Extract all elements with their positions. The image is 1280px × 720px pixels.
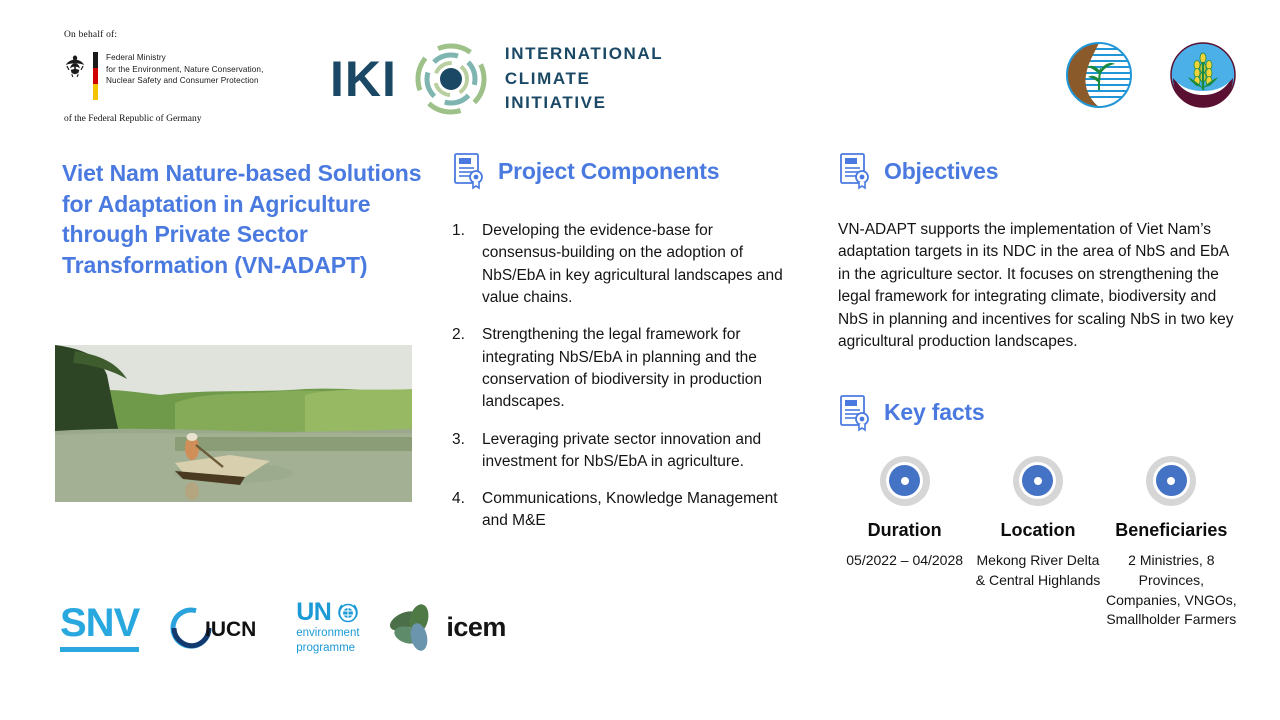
ministry-line-1: Federal Ministry xyxy=(106,52,263,64)
key-fact-location: Location Mekong River Delta & Central Hi… xyxy=(971,456,1104,631)
list-item: 3. Leveraging private sector innovation … xyxy=(452,429,792,474)
ministry-name: Federal Ministry for the Environment, Na… xyxy=(106,52,263,87)
icem-leaf-icon xyxy=(386,602,438,654)
objectives-title: Objectives xyxy=(884,158,998,185)
un-environment-programme-logo: UN environment programme xyxy=(296,600,360,655)
list-item-number: 3. xyxy=(452,429,482,474)
mangrove-river-image xyxy=(55,345,412,502)
iki-wordmark: IKI xyxy=(330,54,397,104)
ministry-line-2: for the Environment, Nature Conservation… xyxy=(106,64,263,76)
list-item-text: Strengthening the legal framework for in… xyxy=(482,324,792,413)
key-fact-value: 05/2022 – 04/2028 xyxy=(846,551,963,571)
german-flag-bar xyxy=(93,52,98,100)
vietnam-partner-logos xyxy=(1062,38,1240,112)
un-sub-line-2: programme xyxy=(296,642,360,655)
iki-circle-mark-icon xyxy=(415,43,487,115)
page-title: Viet Nam Nature-based Solutions for Adap… xyxy=(62,158,432,280)
list-item-number: 4. xyxy=(452,488,482,533)
iucn-logo-mark: IUCN xyxy=(165,602,270,654)
un-sub-line-1: environment xyxy=(296,627,360,640)
key-facts-grid: Duration 05/2022 – 04/2028 Location Meko… xyxy=(838,456,1238,631)
key-fact-label: Location xyxy=(1000,520,1075,541)
iki-name: INTERNATIONAL CLIMATE INITIATIVE xyxy=(505,42,663,116)
list-item-text: Communications, Knowledge Management and… xyxy=(482,488,792,533)
project-components-list: 1. Developing the evidence-base for cons… xyxy=(452,220,792,533)
key-fact-beneficiaries: Beneficiaries 2 Ministries, 8 Provinces,… xyxy=(1105,456,1238,631)
on-behalf-of-label: On behalf of: xyxy=(64,30,364,40)
vietnam-ministry-agriculture-rural-development-emblem xyxy=(1166,38,1240,112)
target-circle-icon xyxy=(1146,456,1196,506)
svg-text:IUCN: IUCN xyxy=(205,618,256,641)
certificate-seal-icon xyxy=(452,152,486,190)
key-fact-label: Duration xyxy=(868,520,942,541)
iki-logo: IKI INTERNATIONAL CLIMATE INITIATIVE xyxy=(330,42,663,116)
un-wordmark: UN xyxy=(296,600,331,625)
project-photo xyxy=(55,345,412,502)
certificate-seal-icon xyxy=(838,152,872,190)
list-item: 4. Communications, Knowledge Management … xyxy=(452,488,792,533)
bmu-ministry-logo: On behalf of: Federal Ministry for the E… xyxy=(64,30,364,124)
icem-wordmark: icem xyxy=(446,612,506,643)
target-circle-icon xyxy=(1013,456,1063,506)
header-logo-bar: On behalf of: Federal Ministry for the E… xyxy=(0,0,1280,140)
key-facts-title: Key facts xyxy=(884,399,984,426)
list-item-number: 2. xyxy=(452,324,482,413)
objectives-body: VN-ADAPT supports the implementation of … xyxy=(838,219,1238,354)
list-item: 1. Developing the evidence-base for cons… xyxy=(452,220,792,309)
list-item-number: 1. xyxy=(452,220,482,309)
key-fact-value: Mekong River Delta & Central Highlands xyxy=(971,551,1104,591)
key-facts-header: Key facts xyxy=(838,394,1238,432)
list-item-text: Developing the evidence-base for consens… xyxy=(482,220,792,309)
project-components-header: Project Components xyxy=(452,152,792,190)
iki-name-line-1: INTERNATIONAL xyxy=(505,42,663,67)
iki-name-line-3: INITIATIVE xyxy=(505,91,663,116)
objectives-keyfacts-section: Objectives VN-ADAPT supports the impleme… xyxy=(838,152,1238,630)
german-eagle-icon xyxy=(64,52,86,78)
ministry-line-3: Nuclear Safety and Consumer Protection xyxy=(106,75,263,87)
list-item-text: Leveraging private sector innovation and… xyxy=(482,429,792,474)
federal-republic-label: of the Federal Republic of Germany xyxy=(64,114,364,124)
icem-logo: icem xyxy=(386,602,506,654)
list-item: 2. Strengthening the legal framework for… xyxy=(452,324,792,413)
iucn-logo: IUCN xyxy=(165,602,270,654)
snv-logo: SNV xyxy=(60,603,139,652)
target-circle-icon xyxy=(880,456,930,506)
certificate-seal-icon xyxy=(838,394,872,432)
un-globe-laurel-icon xyxy=(336,601,360,625)
objectives-header: Objectives xyxy=(838,152,1238,190)
partner-logos: SNV IUCN UN environment programme xyxy=(60,600,506,655)
vietnam-ministry-agriculture-emblem xyxy=(1062,38,1136,112)
key-fact-duration: Duration 05/2022 – 04/2028 xyxy=(838,456,971,631)
key-fact-label: Beneficiaries xyxy=(1115,520,1227,541)
key-fact-value: 2 Ministries, 8 Provinces, Companies, VN… xyxy=(1105,551,1238,631)
project-components-section: Project Components 1. Developing the evi… xyxy=(452,152,792,548)
project-components-title: Project Components xyxy=(498,158,719,185)
project-title-block: Viet Nam Nature-based Solutions for Adap… xyxy=(62,158,432,280)
iki-name-line-2: CLIMATE xyxy=(505,67,663,92)
